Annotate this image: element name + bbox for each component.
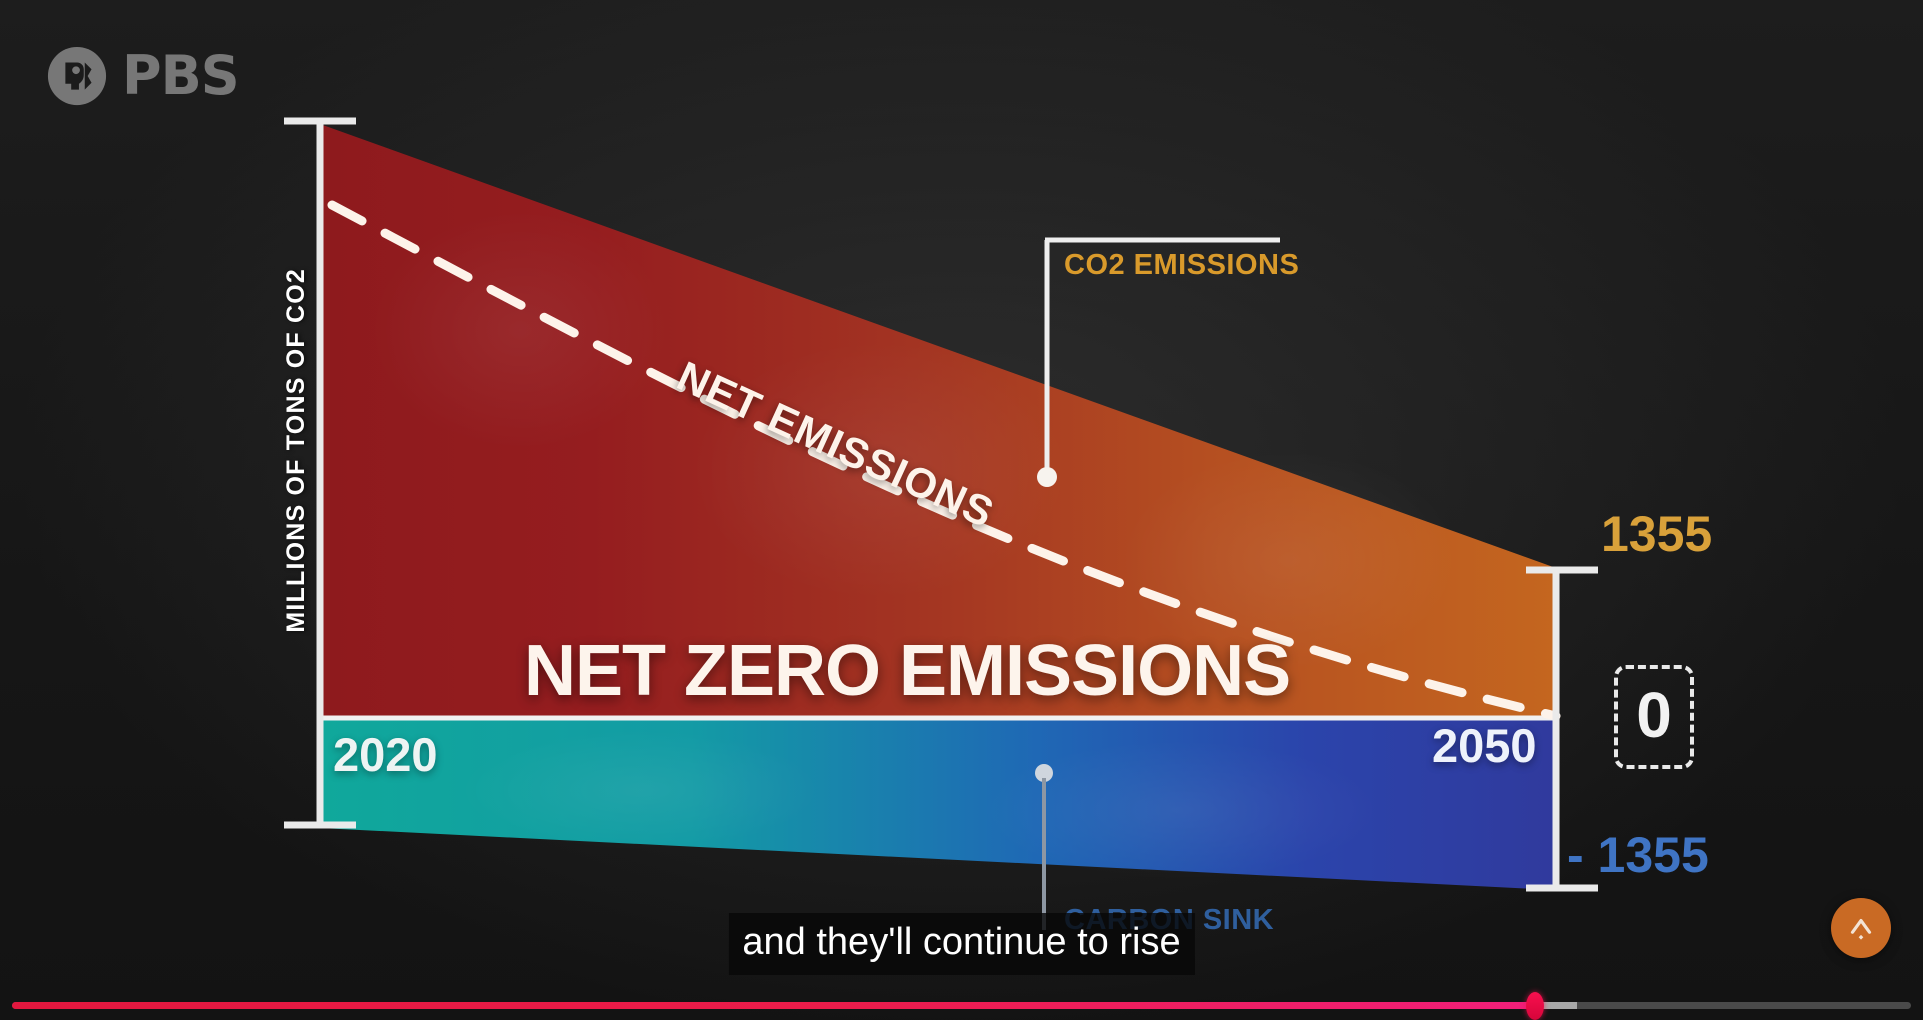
scale-value-top: 1355 bbox=[1601, 505, 1712, 563]
closed-caption-text: and they'll continue to rise bbox=[728, 913, 1194, 975]
pbs-head-icon bbox=[46, 45, 108, 107]
x-tick-label-end: 2050 bbox=[1432, 718, 1537, 773]
emissions-chart: MILLIONS OF TONS OF CO2 CO2 EMISSIONS NE… bbox=[0, 0, 1923, 1020]
y-axis-label: MILLIONS OF TONS OF CO2 bbox=[282, 268, 311, 633]
progress-scrubber-handle[interactable] bbox=[1526, 992, 1544, 1020]
chevron-up-icon bbox=[1844, 911, 1878, 945]
pbs-logo: PBS bbox=[46, 45, 239, 107]
co2-emissions-label: CO2 EMISSIONS bbox=[1064, 249, 1299, 282]
pbs-wordmark: PBS bbox=[122, 49, 239, 103]
x-tick-label-start: 2020 bbox=[333, 727, 438, 782]
chart-title: NET ZERO EMISSIONS bbox=[524, 630, 1290, 712]
video-frame: PBS bbox=[0, 0, 1923, 1020]
scroll-to-top-button[interactable] bbox=[1831, 898, 1891, 958]
co2-emissions-area bbox=[320, 124, 1556, 718]
progress-track[interactable] bbox=[12, 1002, 1911, 1009]
progress-fill bbox=[12, 1002, 1535, 1009]
scale-value-zero: 0 bbox=[1636, 683, 1672, 747]
scale-value-bottom: - 1355 bbox=[1567, 826, 1709, 884]
carbon-sink-area bbox=[320, 718, 1556, 890]
scale-value-zero-box: 0 bbox=[1614, 665, 1694, 769]
video-progress-bar[interactable] bbox=[0, 986, 1923, 1020]
